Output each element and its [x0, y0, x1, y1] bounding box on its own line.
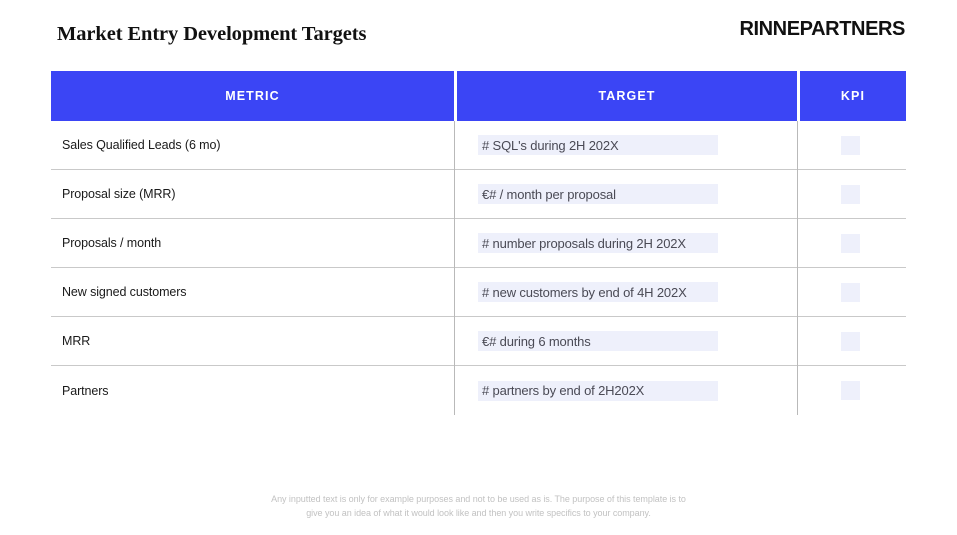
table-row: MRR €# during 6 months [51, 317, 906, 366]
column-divider-metric-target [454, 121, 455, 415]
cell-target[interactable]: # new customers by end of 4H 202X [454, 268, 797, 316]
slide-canvas: Market Entry Development Targets RINNEPA… [0, 0, 957, 535]
cell-metric: MRR [51, 317, 454, 365]
metric-label: Partners [62, 384, 108, 398]
page-title: Market Entry Development Targets [57, 23, 366, 46]
table-row: Sales Qualified Leads (6 mo) # SQL's dur… [51, 121, 906, 170]
cell-target[interactable]: # partners by end of 2H202X [454, 366, 797, 415]
metric-label: Proposals / month [62, 236, 161, 250]
cell-target[interactable]: €# during 6 months [454, 317, 797, 365]
target-value[interactable]: €# / month per proposal [478, 184, 718, 204]
footer-disclaimer: Any inputted text is only for example pu… [0, 492, 957, 520]
target-value[interactable]: # new customers by end of 4H 202X [478, 282, 718, 302]
column-divider-target-kpi [797, 121, 798, 415]
table-row: Proposals / month # number proposals dur… [51, 219, 906, 268]
cell-kpi[interactable] [797, 317, 903, 365]
cell-target[interactable]: # SQL's during 2H 202X [454, 121, 797, 169]
footer-line-2: give you an idea of what it would look l… [0, 506, 957, 520]
column-header-metric: METRIC [51, 71, 454, 121]
targets-table: METRIC TARGET KPI Sales Qualified Leads … [51, 71, 906, 415]
cell-target[interactable]: # number proposals during 2H 202X [454, 219, 797, 267]
cell-kpi[interactable] [797, 268, 903, 316]
cell-metric: Sales Qualified Leads (6 mo) [51, 121, 454, 169]
cell-metric: Proposals / month [51, 219, 454, 267]
column-header-target: TARGET [457, 71, 797, 121]
metric-label: New signed customers [62, 285, 186, 299]
table-row: Partners # partners by end of 2H202X [51, 366, 906, 415]
table-header-row: METRIC TARGET KPI [51, 71, 906, 121]
cell-kpi[interactable] [797, 170, 903, 218]
kpi-placeholder-box[interactable] [841, 332, 860, 351]
cell-metric: Partners [51, 366, 454, 415]
cell-target[interactable]: €# / month per proposal [454, 170, 797, 218]
kpi-placeholder-box[interactable] [841, 283, 860, 302]
cell-kpi[interactable] [797, 366, 903, 415]
kpi-placeholder-box[interactable] [841, 381, 860, 400]
target-value[interactable]: €# during 6 months [478, 331, 718, 351]
cell-kpi[interactable] [797, 121, 903, 169]
metric-label: Proposal size (MRR) [62, 187, 175, 201]
cell-metric: New signed customers [51, 268, 454, 316]
kpi-placeholder-box[interactable] [841, 136, 860, 155]
metric-label: MRR [62, 334, 90, 348]
metric-label: Sales Qualified Leads (6 mo) [62, 138, 220, 152]
brand-logo: RINNEPARTNERS [739, 18, 905, 41]
footer-line-1: Any inputted text is only for example pu… [0, 492, 957, 506]
kpi-placeholder-box[interactable] [841, 185, 860, 204]
kpi-placeholder-box[interactable] [841, 234, 860, 253]
table-row: Proposal size (MRR) €# / month per propo… [51, 170, 906, 219]
cell-metric: Proposal size (MRR) [51, 170, 454, 218]
target-value[interactable]: # SQL's during 2H 202X [478, 135, 718, 155]
table-row: New signed customers # new customers by … [51, 268, 906, 317]
cell-kpi[interactable] [797, 219, 903, 267]
target-value[interactable]: # partners by end of 2H202X [478, 381, 718, 401]
column-header-kpi: KPI [800, 71, 906, 121]
target-value[interactable]: # number proposals during 2H 202X [478, 233, 718, 253]
table-body: Sales Qualified Leads (6 mo) # SQL's dur… [51, 121, 906, 415]
